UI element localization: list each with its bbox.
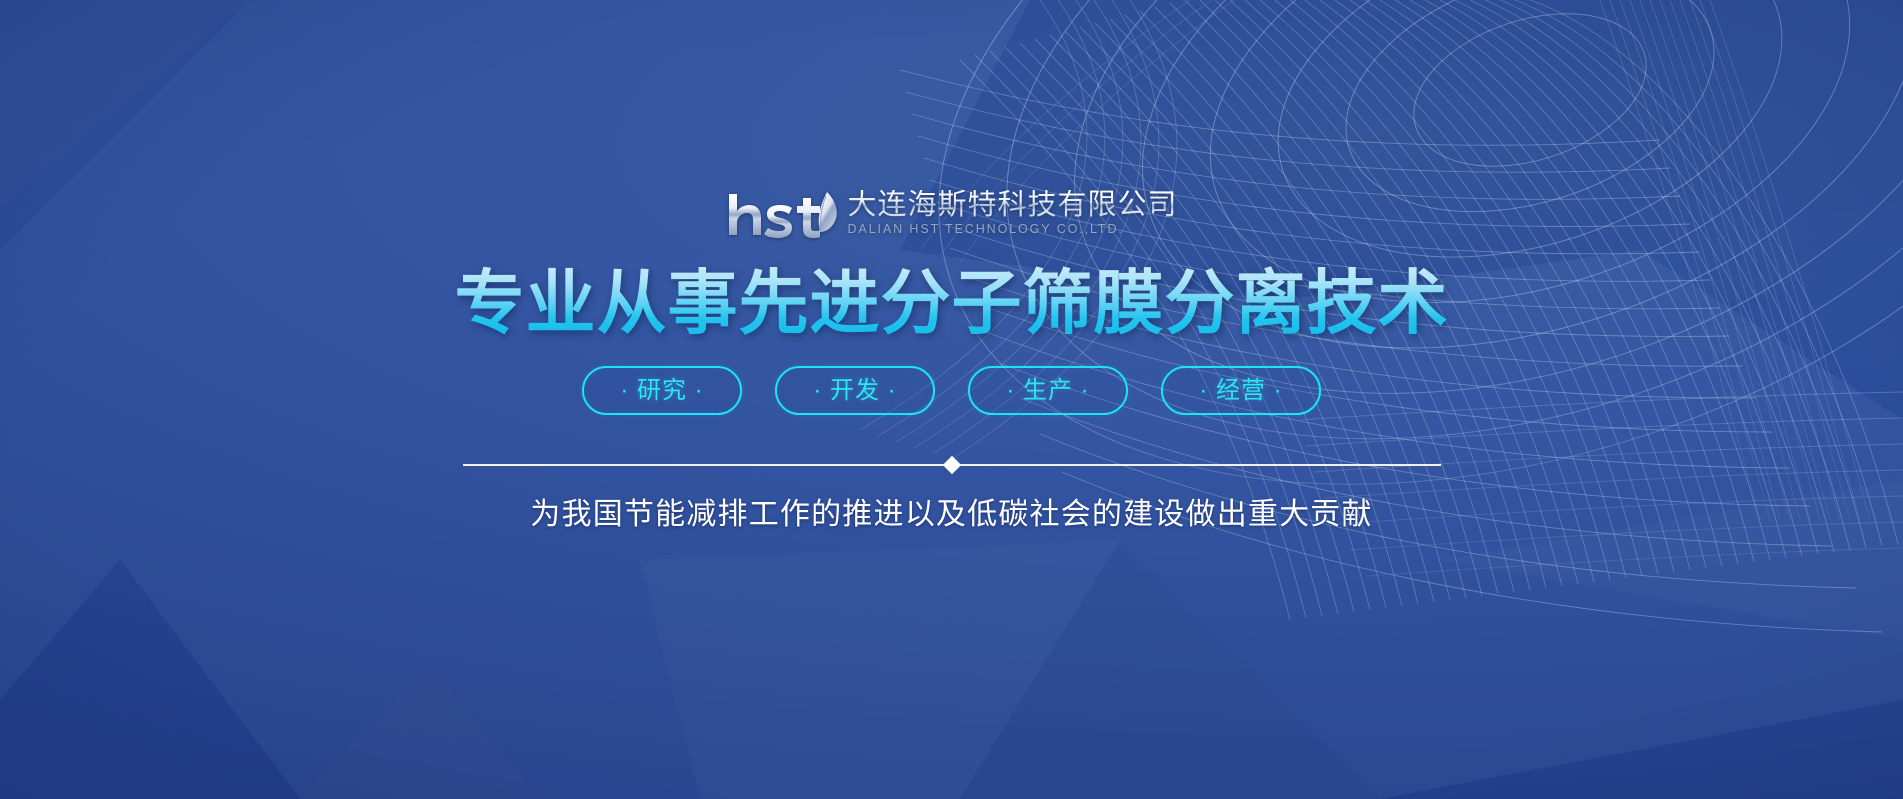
pill-operation[interactable]: · 经营 · <box>1161 366 1321 415</box>
hero-banner: 大连海斯特科技有限公司 DALIAN HST TECHNOLOGY CO.,LT… <box>0 0 1903 799</box>
company-name-cn: 大连海斯特科技有限公司 <box>847 190 1177 220</box>
logo-mark <box>725 188 837 240</box>
pill-production[interactable]: · 生产 · <box>968 366 1128 415</box>
company-logo: 大连海斯特科技有限公司 DALIAN HST TECHNOLOGY CO.,LT… <box>725 188 1177 240</box>
hst-wordmark-icon <box>725 188 837 240</box>
logo-text-block: 大连海斯特科技有限公司 DALIAN HST TECHNOLOGY CO.,LT… <box>847 190 1177 239</box>
banner-content: 大连海斯特科技有限公司 DALIAN HST TECHNOLOGY CO.,LT… <box>0 0 1903 799</box>
subtitle: 为我国节能减排工作的推进以及低碳社会的建设做出重大贡献 <box>530 496 1372 534</box>
company-name-en: DALIAN HST TECHNOLOGY CO.,LTD. <box>847 222 1177 237</box>
divider <box>463 456 1441 474</box>
capability-pill-row: · 研究 · · 开发 · · 生产 · · 经营 · <box>582 366 1321 415</box>
pill-research[interactable]: · 研究 · <box>582 366 742 415</box>
diamond-icon <box>942 456 960 474</box>
pill-development[interactable]: · 开发 · <box>775 366 935 415</box>
headline: 专业从事先进分子筛膜分离技术 <box>455 264 1449 342</box>
